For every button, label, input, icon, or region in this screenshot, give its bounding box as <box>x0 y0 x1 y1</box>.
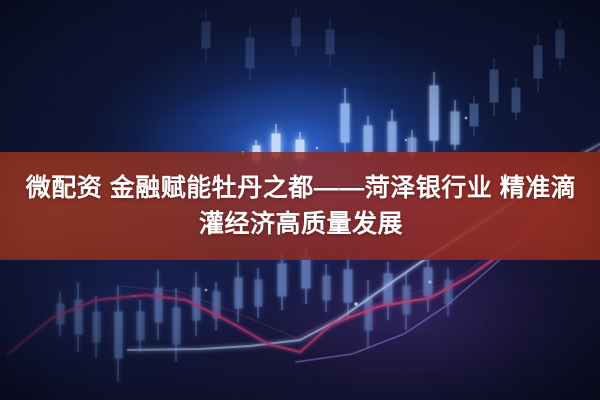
candle-cluster-right <box>470 20 564 136</box>
candle-cluster-upper <box>341 72 459 160</box>
headline-line-2: 灌经济高质量发展 <box>197 209 403 239</box>
candle-cluster-lower <box>57 246 452 382</box>
candle-cluster-top <box>202 6 334 80</box>
promo-banner: 微配资 金融赋能牡丹之都——菏泽银行业 精准滴 灌经济高质量发展 <box>0 0 600 400</box>
banner-headline: 微配资 金融赋能牡丹之都——菏泽银行业 精准滴 灌经济高质量发展 <box>0 152 600 260</box>
headline-line-1: 微配资 金融赋能牡丹之都——菏泽银行业 精准滴 <box>24 173 576 203</box>
